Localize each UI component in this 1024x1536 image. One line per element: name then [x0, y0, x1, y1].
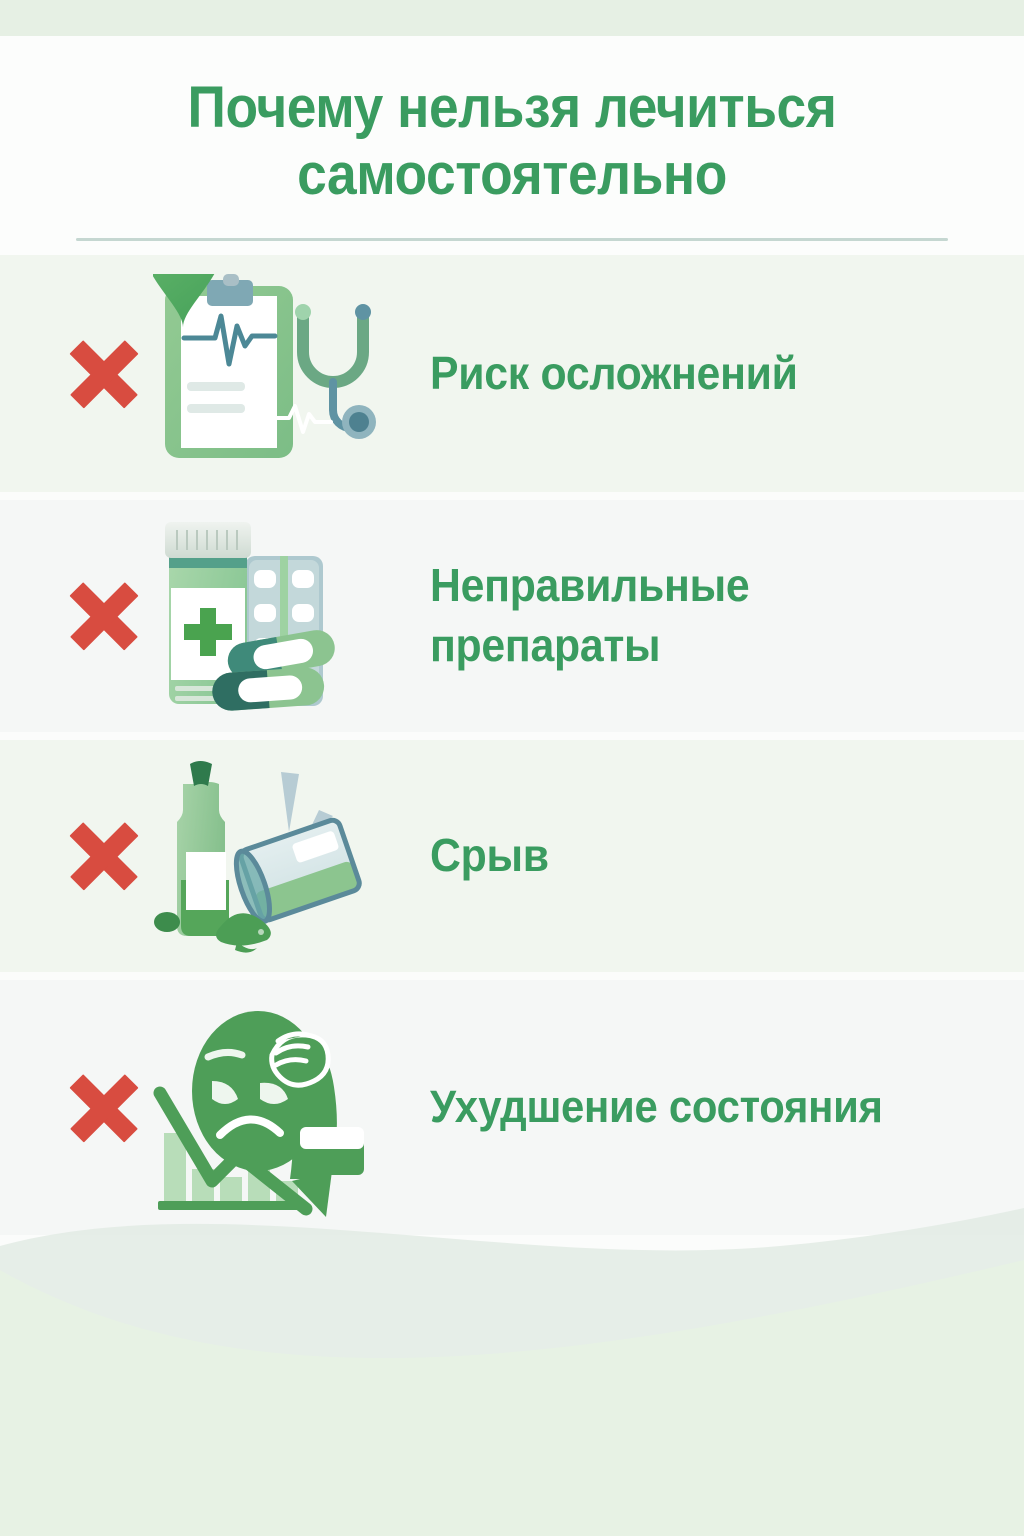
title-divider: [76, 238, 948, 241]
clipboard-ecg-heart-stethoscope-icon: [145, 255, 395, 492]
top-accent-strip: [0, 0, 1024, 36]
list-item-label: Ухудшение состояния: [430, 1078, 951, 1137]
sad-person-declining-chart-icon: [145, 980, 395, 1235]
list-item-label: Срыв: [430, 826, 951, 886]
red-cross-icon: [58, 328, 150, 420]
red-cross-icon: [58, 1062, 150, 1154]
list-item: Ухудшение состояния: [0, 980, 1024, 1235]
alcohol-bottle-spilled-glass-icon: [145, 740, 395, 972]
red-cross-icon: [58, 810, 150, 902]
infographic-poster: Почему нельзя лечиться самостоятельно: [0, 0, 1024, 1536]
poster-header: Почему нельзя лечиться самостоятельно: [0, 36, 1024, 255]
list-item-label: Неправильные препараты: [430, 556, 951, 676]
list-item-label: Риск осложнений: [430, 344, 951, 404]
red-cross-icon: [58, 570, 150, 662]
list-item: Неправильные препараты: [0, 500, 1024, 732]
pill-bottle-blister-capsules-icon: [145, 500, 395, 732]
list-item: Риск осложнений: [0, 255, 1024, 492]
page-title: Почему нельзя лечиться самостоятельно: [41, 74, 983, 209]
list-item: Срыв: [0, 740, 1024, 972]
bottom-wave-decoration: [0, 1206, 1024, 1536]
